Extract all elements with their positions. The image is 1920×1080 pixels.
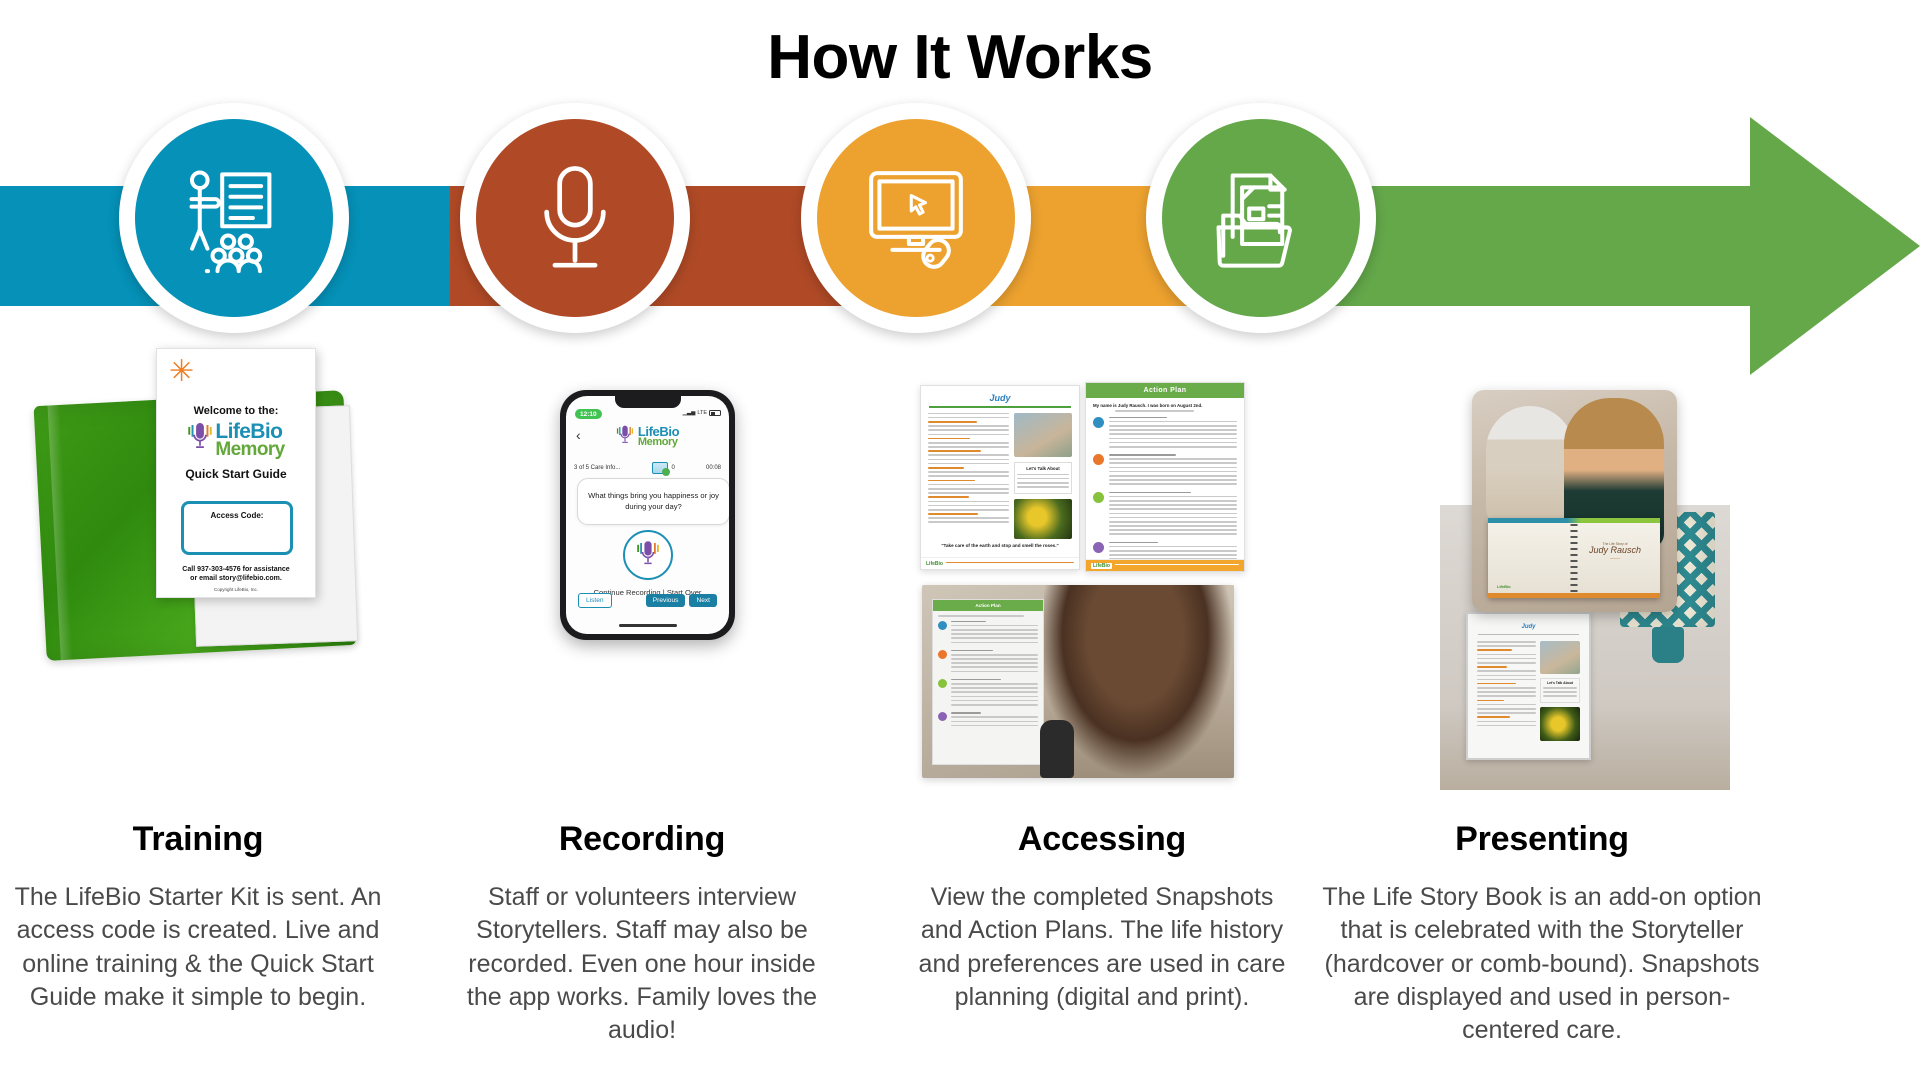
snapshot-rule [929,406,1071,408]
action-plan-document: Action Plan My name is Judy Rausch. I wa… [1085,382,1245,572]
how-it-works-infographic: How It Works [0,0,1920,1080]
lamp-base [1652,627,1684,663]
progress-label: 3 of 5 Care Info... [574,465,620,471]
lifebio-memory-logo: LifeBio Memory [157,421,315,459]
app-header-logo: LifeBio Memory [566,424,729,448]
photo-woman-viewing-action-plan: Action Plan [922,585,1234,778]
step-circle-recording [460,103,690,333]
qsg-welcome-line: Welcome to the: [157,405,315,417]
home-indicator [619,624,677,627]
record-timer: 00:08 [706,465,721,471]
body-recording: Staff or volunteers interview Storytelle… [452,881,832,1047]
snapshot-document: Judy Let's Talk About [920,385,1080,570]
battery-icon [709,410,721,416]
lifebio-mic-icon [187,421,213,455]
book-brand-mark: LifeBio [1497,584,1511,589]
lifebio-footer-brand: LifeBio [926,561,943,567]
column-recording: Recording Staff or volunteers interview … [452,820,832,1047]
access-code-label: Access Code: [184,511,290,520]
lifebio-app-phone: 12:10 ▁▃▅ LTE ‹ LifeBio [560,390,735,640]
lets-talk-speech-icon [1093,454,1104,465]
signal-icon: ▁▃▅ [683,410,696,416]
book-cover-title: Judy Rausch [1584,546,1646,556]
qsg-copyright: Copyright LifeBio, Inc. [157,587,315,592]
framed-doc-title: Judy [1468,614,1589,634]
action-plan-footer: LifeBio [1086,559,1244,571]
phone-button-row: Listen Previous Next [566,593,729,608]
brand-memory: Memory [215,440,284,459]
action-plan-title: Action Plan [1086,383,1244,398]
add-photo-icon[interactable] [652,462,668,474]
arrow-head-icon [1750,117,1920,375]
record-mic-button[interactable] [623,530,673,580]
next-button[interactable]: Next [689,594,717,607]
status-time: 12:10 [575,409,602,419]
monitor-cursor-mouse-icon [857,159,975,277]
heading-presenting: Presenting [1322,820,1762,859]
presenter-board-audience-icon [175,159,293,277]
things-to-do-lightbulb-icon [1093,492,1104,503]
heading-recording: Recording [452,820,832,859]
listen-button[interactable]: Listen [578,593,612,608]
snapshot-title: Judy [921,386,1079,406]
heading-accessing: Accessing [912,820,1292,859]
framed-photo-thumb [1540,641,1580,674]
elder-woman [1486,406,1574,526]
body-accessing: View the completed Snapshots and Action … [912,881,1292,1014]
framed-flower-thumb [1540,707,1580,741]
page-title: How It Works [0,22,1920,93]
band-segment-presenting [1325,186,1750,306]
orange-starburst-icon: ✳ [169,359,195,385]
column-accessing: Accessing View the completed Snapshots a… [912,820,1292,1014]
about-me-person-icon [1093,417,1104,428]
folder-documents-icon [1202,159,1320,277]
snapshot-quote: "Take care of the earth and stop and sme… [921,543,1079,549]
body-training: The LifeBio Starter Kit is sent. An acce… [8,881,388,1014]
status-indicators: ▁▃▅ LTE [683,410,721,416]
body-presenting: The Life Story Book is an add-on option … [1322,881,1762,1047]
step-circle-presenting [1146,103,1376,333]
qsg-doc-title: Quick Start Guide [157,467,315,481]
heading-training: Training [8,820,388,859]
network-label: LTE [697,410,707,416]
phone-notch [615,396,681,408]
step-circle-training [119,103,349,333]
question-progress-bar: 3 of 5 Care Info... 0 00:08 [566,462,729,474]
lets-talk-about-title: Let's Talk About [1017,466,1069,471]
telephone-handset [1040,720,1074,778]
action-plan-intro: My name is Judy Rausch. I was born on Au… [1086,398,1244,410]
snapshot-footer: LifeBio [921,557,1079,569]
microphone-icon [516,159,634,277]
step-circle-accessing [801,103,1031,333]
access-code-box: Access Code: [181,501,293,555]
quick-start-guide-card: ✳ Welcome to the: LifeBio Memory Quick S… [156,348,316,598]
previous-button[interactable]: Previous [646,594,686,607]
care-info-heart-icon [1093,542,1104,553]
snapshot-flower-thumb [1014,499,1072,539]
photo-two-women-reading-life-story-book: The Life Story of Judy Rausch ⁓⁓ LifeBio [1472,390,1677,612]
app-brand-memory: Memory [638,437,679,448]
qsg-contact-line: Call 937-303-4576 for assistance or emai… [157,565,315,584]
phone-screen: 12:10 ▁▃▅ LTE ‹ LifeBio [566,396,729,634]
snapshot-photo-thumb [1014,413,1072,457]
framed-snapshot: Judy Let's Talk About [1466,612,1591,760]
lifebio-mic-icon [616,424,634,448]
microphone-icon [636,540,660,570]
column-training: Training The LifeBio Starter Kit is sent… [8,820,388,1014]
photo-count: 0 [672,465,675,471]
column-presenting: Presenting The Life Story Book is an add… [1322,820,1762,1047]
lifebio-footer-brand: LifeBio [1091,563,1112,569]
life-story-book: The Life Story of Judy Rausch ⁓⁓ LifeBio [1488,518,1660,598]
question-bubble: What things bring you happiness or joy d… [577,478,729,525]
